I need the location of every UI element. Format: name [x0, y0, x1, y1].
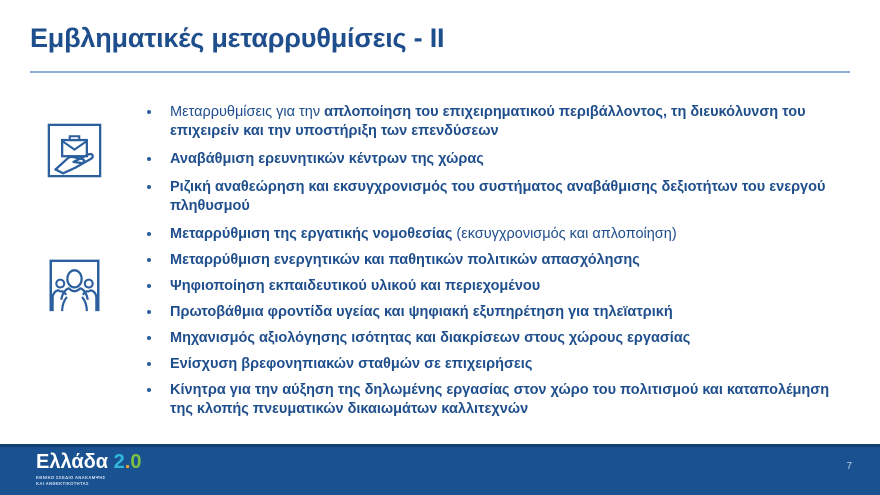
- page-title: Εμβληματικές μεταρρυθμίσεις - II: [30, 24, 850, 54]
- slide-canvas: Εμβληματικές μεταρρυθμίσεις - II: [0, 0, 880, 495]
- title-divider: [30, 71, 850, 73]
- list-item: Πρωτοβάθμια φροντίδα υγείας και ψηφιακή …: [142, 303, 854, 322]
- logo-subtitle: ΕΘΝΙΚΟ ΣΧΕΔΙΟ ΑΝΑΚΑΜΨΗΣ ΚΑΙ ΑΝΘΕΚΤΙΚΟΤΗΤ…: [36, 475, 141, 486]
- bullet-dot-icon: [147, 310, 151, 314]
- bullet-text-run: Μεταρρύθμιση ενεργητικών και παθητικών π…: [170, 252, 640, 268]
- list-item: Ριζική αναθεώρηση και εκσυγχρονισμός του…: [142, 178, 854, 216]
- bullet-dot-icon: [147, 185, 151, 189]
- list-item: Ψηφιοποίηση εκπαιδευτικού υλικού και περ…: [142, 277, 854, 296]
- list-item: Αναβάθμιση ερευνητικών κέντρων της χώρας: [142, 150, 854, 169]
- bullet-text: Πρωτοβάθμια φροντίδα υγείας και ψηφιακή …: [170, 304, 673, 320]
- logo-two: 2: [114, 451, 125, 473]
- list-item: Κίνητρα για την αύξηση της δηλωμένης εργ…: [142, 381, 854, 419]
- list-item: Μεταρρυθμίσεις για την απλοποίηση του επ…: [142, 103, 854, 141]
- list-item: Ενίσχυση βρεφονηπιακών σταθμών σε επιχει…: [142, 355, 854, 374]
- footer-top-accent: [0, 444, 880, 447]
- list-item: Μεταρρύθμιση ενεργητικών και παθητικών π…: [142, 251, 854, 270]
- bullet-text-run: Μηχανισμός αξιολόγησης ισότητας και διακ…: [170, 330, 690, 346]
- bullet-text-run: Αναβάθμιση ερευνητικών κέντρων της χώρας: [170, 151, 484, 167]
- people-group-icon: [46, 257, 103, 314]
- bullet-text: Μεταρρύθμιση ενεργητικών και παθητικών π…: [170, 252, 640, 268]
- bullet-text-run: Μεταρρύθμιση της εργατικής νομοθεσίας: [170, 226, 456, 242]
- bullet-dot-icon: [147, 362, 151, 366]
- bullet-text: Ενίσχυση βρεφονηπιακών σταθμών σε επιχει…: [170, 356, 532, 372]
- bullet-text: Αναβάθμιση ερευνητικών κέντρων της χώρας: [170, 151, 484, 167]
- bullet-dot-icon: [147, 232, 151, 236]
- bullet-text: Μεταρρυθμίσεις για την απλοποίηση του επ…: [170, 104, 806, 139]
- bullet-dot-icon: [147, 388, 151, 392]
- bullet-text: Ριζική αναθεώρηση και εκσυγχρονισμός του…: [170, 179, 825, 214]
- bullet-text: Μεταρρύθμιση της εργατικής νομοθεσίας (ε…: [170, 226, 677, 242]
- bullet-list: Μεταρρυθμίσεις για την απλοποίηση του επ…: [142, 103, 854, 426]
- page-number: 7: [846, 461, 852, 472]
- bullet-text: Μηχανισμός αξιολόγησης ισότητας και διακ…: [170, 330, 690, 346]
- bullet-text-run: (εκσυγχρονισμός και απλοποίηση): [456, 226, 676, 242]
- bullet-text: Κίνητρα για την αύξηση της δηλωμένης εργ…: [170, 382, 829, 417]
- greece-2-0-logo: Ελλάδα 2.0 ΕΘΝΙΚΟ ΣΧΕΔΙΟ ΑΝΑΚΑΜΨΗΣ ΚΑΙ Α…: [36, 452, 141, 486]
- briefcase-hand-icon: [46, 122, 103, 179]
- bullet-text-run: Ριζική αναθεώρηση και εκσυγχρονισμός του…: [170, 179, 825, 214]
- bullet-dot-icon: [147, 336, 151, 340]
- bullet-dot-icon: [147, 258, 151, 262]
- bullet-text-run: Ενίσχυση βρεφονηπιακών σταθμών σε επιχει…: [170, 356, 532, 372]
- logo-wordmark: Ελλάδα 2.0: [36, 452, 141, 473]
- bullet-text-run: Μεταρρυθμίσεις για την: [170, 104, 324, 120]
- bullet-text-run: Κίνητρα για την αύξηση της δηλωμένης εργ…: [170, 382, 829, 417]
- bullet-text-run: Ψηφιοποίηση εκπαιδευτικού υλικού και περ…: [170, 278, 540, 294]
- title-area: Εμβληματικές μεταρρυθμίσεις - II: [30, 24, 850, 54]
- logo-zero: 0: [130, 451, 141, 473]
- footer-bar: Ελλάδα 2.0 ΕΘΝΙΚΟ ΣΧΕΔΙΟ ΑΝΑΚΑΜΨΗΣ ΚΑΙ Α…: [0, 444, 880, 495]
- bullet-dot-icon: [147, 110, 151, 114]
- bullet-text: Ψηφιοποίηση εκπαιδευτικού υλικού και περ…: [170, 278, 540, 294]
- logo-subtitle-line2: ΚΑΙ ΑΝΘΕΚΤΙΚΟΤΗΤΑΣ: [36, 481, 141, 487]
- bullet-dot-icon: [147, 157, 151, 161]
- logo-word: Ελλάδα: [36, 451, 108, 473]
- list-item: Μηχανισμός αξιολόγησης ισότητας και διακ…: [142, 329, 854, 348]
- bullet-dot-icon: [147, 284, 151, 288]
- list-item: Μεταρρύθμιση της εργατικής νομοθεσίας (ε…: [142, 225, 854, 244]
- bullet-text-run: Πρωτοβάθμια φροντίδα υγείας και ψηφιακή …: [170, 304, 673, 320]
